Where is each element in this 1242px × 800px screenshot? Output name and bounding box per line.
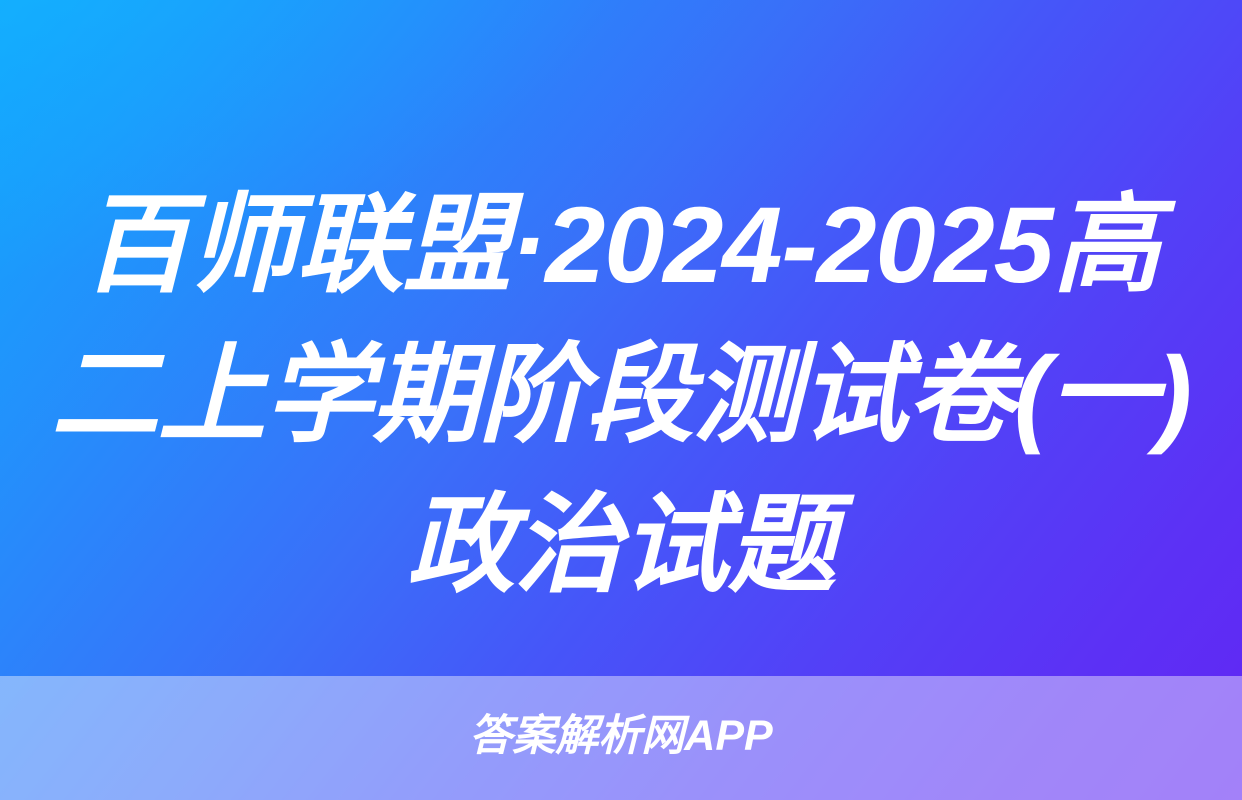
- exam-cover-poster: 百师联盟·2024-2025高 二上学期阶段测试卷(一) 政治试题 答案解析网A…: [0, 0, 1242, 800]
- title-line-2: 二上学期阶段测试卷(一): [18, 320, 1224, 470]
- title-line-1: 百师联盟·2024-2025高: [18, 170, 1224, 320]
- watermark-band: 答案解析网APP: [0, 676, 1242, 800]
- title-line-3-subject: 政治试题: [18, 470, 1224, 620]
- page-title: 百师联盟·2024-2025高 二上学期阶段测试卷(一) 政治试题: [0, 170, 1242, 620]
- watermark-app-label: 答案解析网APP: [469, 715, 772, 758]
